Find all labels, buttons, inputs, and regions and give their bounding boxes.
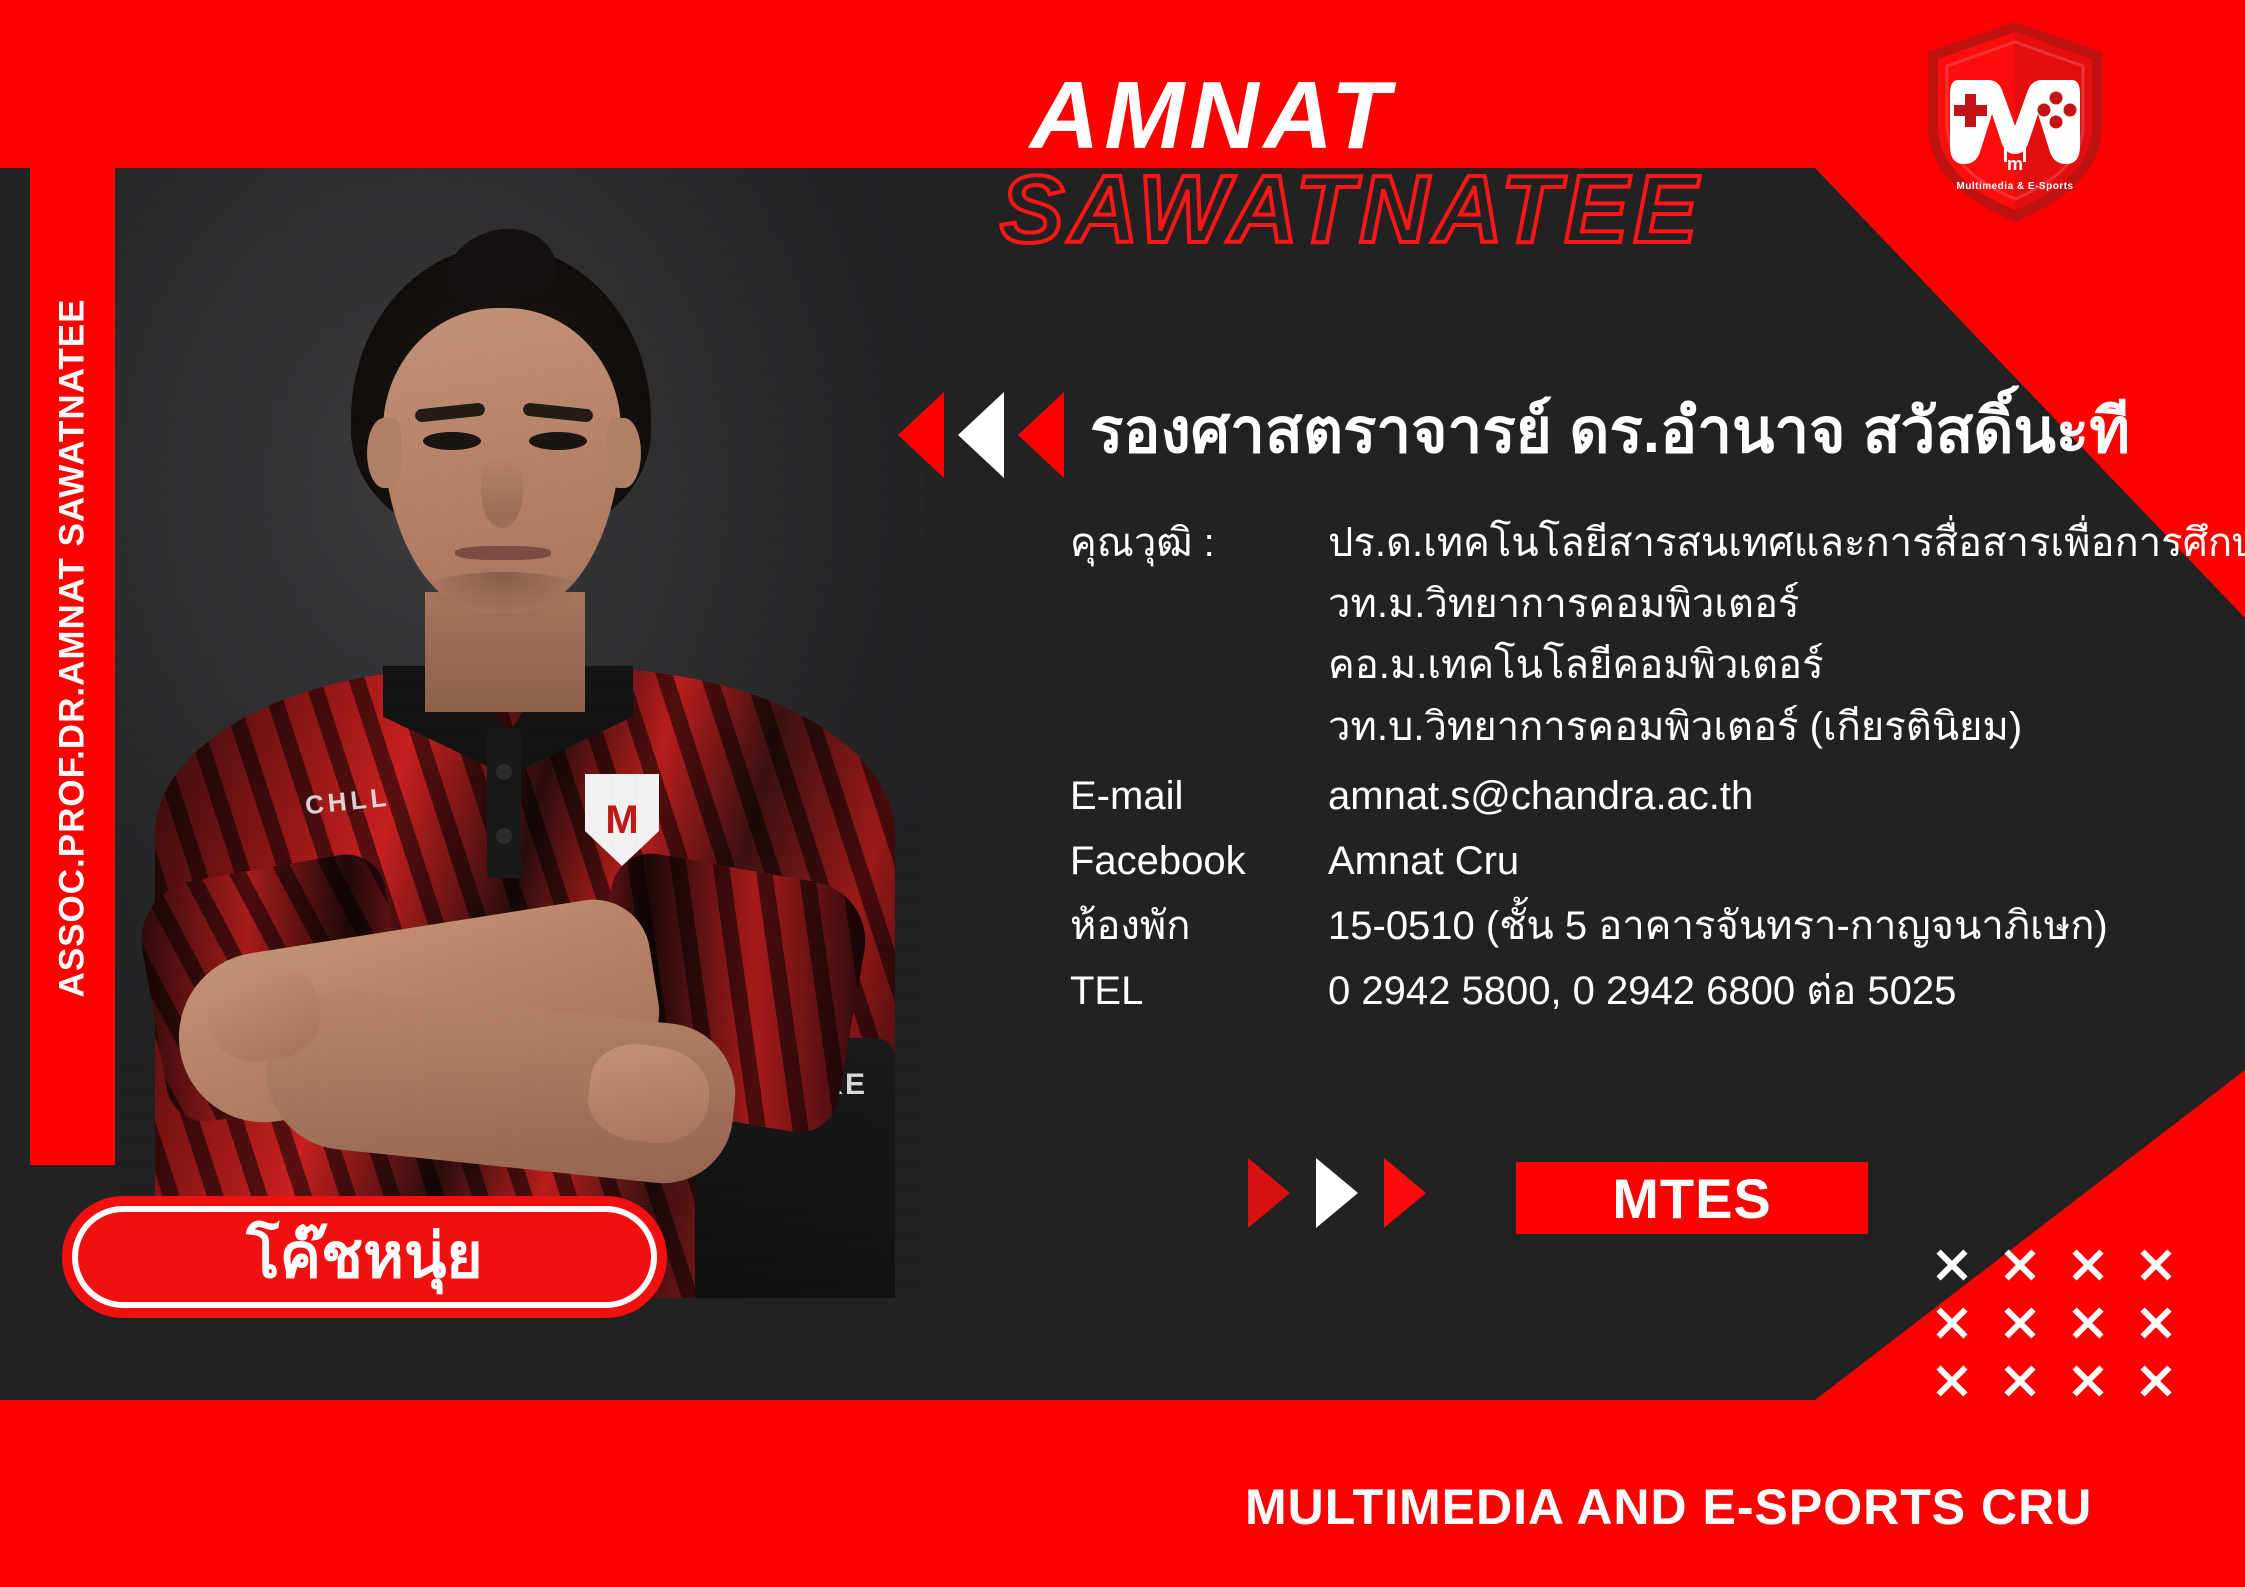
x-icon	[1993, 1296, 2061, 1354]
footer-text: MULTIMEDIA AND E-SPORTS CRU	[1245, 1478, 2092, 1536]
info-row-facebook: Facebook Amnat Cru	[1070, 838, 2245, 885]
info-value-room: 15-0510 (ชั้น 5 อาคารจันทรา-กาญจนาภิเษก)	[1328, 903, 2108, 950]
info-value-facebook[interactable]: Amnat Cru	[1328, 838, 1519, 885]
info-row-email: E-mail amnat.s@chandra.ac.th	[1070, 773, 2245, 820]
triangle-right-icon-darkred	[1248, 1158, 1290, 1228]
subtitle-thai-name: รองศาสตราจารย์ ดร.อำนาจ สวัสดิ์นะที	[1090, 398, 2130, 466]
first-name-heading: AMNAT	[1030, 68, 1394, 164]
x-icon	[2129, 1296, 2197, 1354]
nickname-badge: โค๊ชหนุ่ย	[62, 1196, 667, 1318]
qualification-item: วท.บ.วิทยาการคอมพิวเตอร์ (เกียรตินิยม)	[1328, 704, 2245, 751]
photo-grain-overlay	[115, 168, 925, 1298]
triangle-right-icon-white	[1316, 1158, 1358, 1228]
info-label-room: ห้องพัก	[1070, 903, 1328, 950]
x-icon	[2061, 1296, 2129, 1354]
svg-text:m: m	[2007, 154, 2023, 174]
info-label-facebook: Facebook	[1070, 838, 1328, 885]
x-icon	[2061, 1238, 2129, 1296]
info-value-email[interactable]: amnat.s@chandra.ac.th	[1328, 773, 1753, 820]
info-row-room: ห้องพัก 15-0510 (ชั้น 5 อาคารจันทรา-กาญจ…	[1070, 903, 2245, 950]
arrow-group-left	[898, 392, 1064, 478]
triangle-left-icon-white	[958, 392, 1004, 478]
triangle-left-icon-red-1	[898, 392, 944, 478]
mtes-shield-logo: m Multimedia & E-Sports	[1920, 18, 2110, 228]
nickname-text: โค๊ชหนุ่ย	[246, 1226, 482, 1288]
vertical-name-strip: ASSOC.PROF.DR.AMNAT SAWATNATEE	[30, 130, 115, 1165]
info-row-qualification: คุณวุฒิ : ปร.ด.เทคโนโลยีสารสนเทศและการสื…	[1070, 520, 2245, 751]
x-icon	[1925, 1296, 1993, 1354]
info-label-tel: TEL	[1070, 968, 1328, 1015]
logo-tagline: Multimedia & E-Sports	[1920, 181, 2110, 192]
mtes-badge-label: MTES	[1612, 1166, 1772, 1231]
info-row-tel: TEL 0 2942 5800, 0 2942 6800 ต่อ 5025	[1070, 968, 2245, 1015]
nickname-badge-inner: โค๊ชหนุ่ย	[72, 1206, 657, 1308]
mtes-badge: MTES	[1516, 1162, 1868, 1234]
triangle-right-icon-red	[1384, 1158, 1426, 1228]
x-icon	[1993, 1238, 2061, 1296]
portrait-photo: KE M CHLL	[115, 168, 925, 1298]
arrow-group-right	[1248, 1158, 1426, 1228]
profile-card: ASSOC.PROF.DR.AMNAT SAWATNATEE KE M CHLL	[0, 0, 2245, 1587]
info-block: คุณวุฒิ : ปร.ด.เทคโนโลยีสารสนเทศและการสื…	[1070, 520, 2245, 1034]
vertical-name-text: ASSOC.PROF.DR.AMNAT SAWATNATEE	[53, 298, 93, 997]
qualification-item: คอ.ม.เทคโนโลยีคอมพิวเตอร์	[1328, 642, 2245, 689]
info-label-email: E-mail	[1070, 773, 1328, 820]
qualification-item: วท.ม.วิทยาการคอมพิวเตอร์	[1328, 581, 2245, 628]
qualification-item: ปร.ด.เทคโนโลยีสารสนเทศและการสื่อสารเพื่อ…	[1328, 520, 2245, 567]
info-value-tel[interactable]: 0 2942 5800, 0 2942 6800 ต่อ 5025	[1328, 968, 1956, 1015]
x-icon	[2129, 1238, 2197, 1296]
qualification-list: ปร.ด.เทคโนโลยีสารสนเทศและการสื่อสารเพื่อ…	[1328, 520, 2245, 751]
last-name-heading: SAWATNATEE	[1000, 162, 1702, 258]
x-icon	[1925, 1238, 1993, 1296]
triangle-left-icon-red-2	[1018, 392, 1064, 478]
info-label-qualification: คุณวุฒิ :	[1070, 520, 1328, 567]
